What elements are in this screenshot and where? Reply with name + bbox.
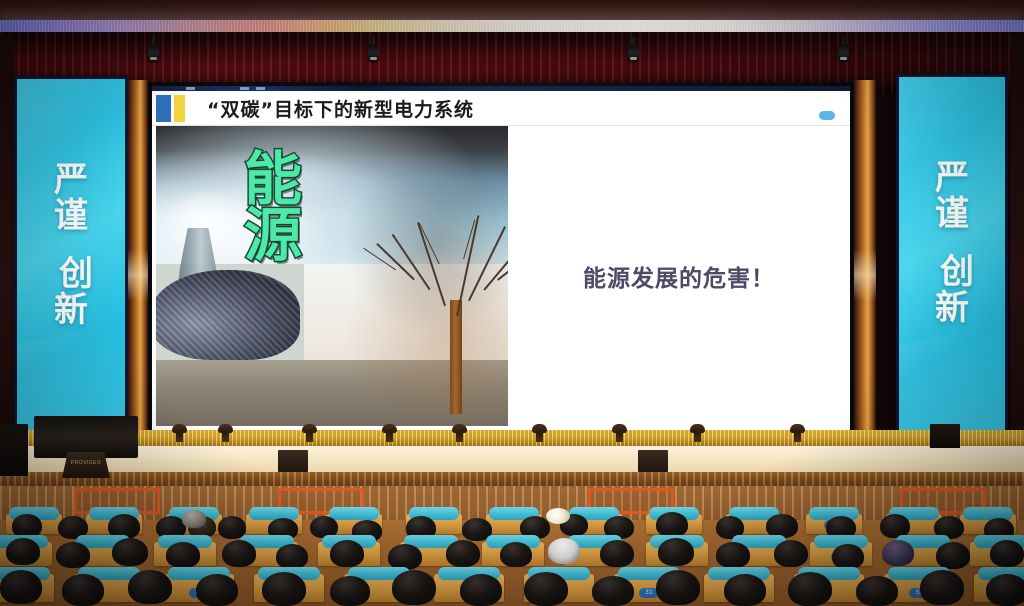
photo-overlay-char-2: 源 <box>244 208 384 264</box>
footlight-icon <box>690 424 705 442</box>
spotlight-icon <box>148 44 159 61</box>
spotlight-icon <box>368 44 379 61</box>
spotlight-icon <box>628 44 639 61</box>
audience-area: 23 33 <box>0 486 1024 606</box>
stage-monitor-speaker <box>278 450 308 472</box>
footlight-icon <box>218 424 233 442</box>
stage-light-bar <box>0 430 1024 446</box>
right-banner-frame <box>896 74 1008 450</box>
decorative-pill-icon <box>819 111 835 120</box>
footlight-icon <box>790 424 805 442</box>
side-wall-right <box>1010 34 1024 454</box>
stage-pillar-right <box>854 80 876 448</box>
stage-pillar-left <box>128 80 148 448</box>
white-cap <box>548 538 580 564</box>
projection-screen: “双碳”目标下的新型电力系统 <box>152 86 850 430</box>
slide-heading-area: 能源发展的危害！ <box>512 126 846 426</box>
footlight-icon <box>302 424 317 442</box>
side-wall-left <box>0 34 14 454</box>
footlight-icon <box>532 424 547 442</box>
stage-monitor-speaker <box>638 450 668 472</box>
footlight-icon <box>172 424 187 442</box>
spotlight-icon <box>838 44 849 61</box>
photo-overlay-text: 能 源 <box>244 152 384 263</box>
podium-brand-label: PROVIDEO <box>64 460 108 466</box>
stage-equipment-right <box>930 424 960 448</box>
stage-equipment-left <box>0 424 28 476</box>
podium-monitor: PROVIDEO <box>34 416 138 476</box>
slide-heading: 能源发展的危害！ <box>583 259 775 293</box>
ceiling <box>0 0 1024 22</box>
footlight-icon <box>452 424 467 442</box>
title-accent-blue <box>156 95 171 122</box>
slide-title: “双碳”目标下的新型电力系统 <box>207 95 474 122</box>
footlight-icon <box>612 424 627 442</box>
footlight-icon <box>382 424 397 442</box>
photo-overlay-char-1: 能 <box>244 152 384 208</box>
left-banner-frame <box>14 76 128 448</box>
title-accent-yellow <box>174 95 185 122</box>
auditorium-scene: 严 谨 创 新 严 谨 创 新 “双碳”目标下的新型电力系统 <box>0 0 1024 606</box>
coal-pile <box>156 270 300 360</box>
slide-title-row: “双碳”目标下的新型电力系统 <box>152 91 850 126</box>
tree-trunk <box>450 300 462 414</box>
slide-body: 能 源 能源发展的危害！ <box>152 126 850 430</box>
stage-floor <box>0 446 1024 474</box>
podium-screen <box>34 416 138 458</box>
flower-arrangement <box>546 508 570 524</box>
energy-illustration: 能 源 <box>156 126 508 426</box>
